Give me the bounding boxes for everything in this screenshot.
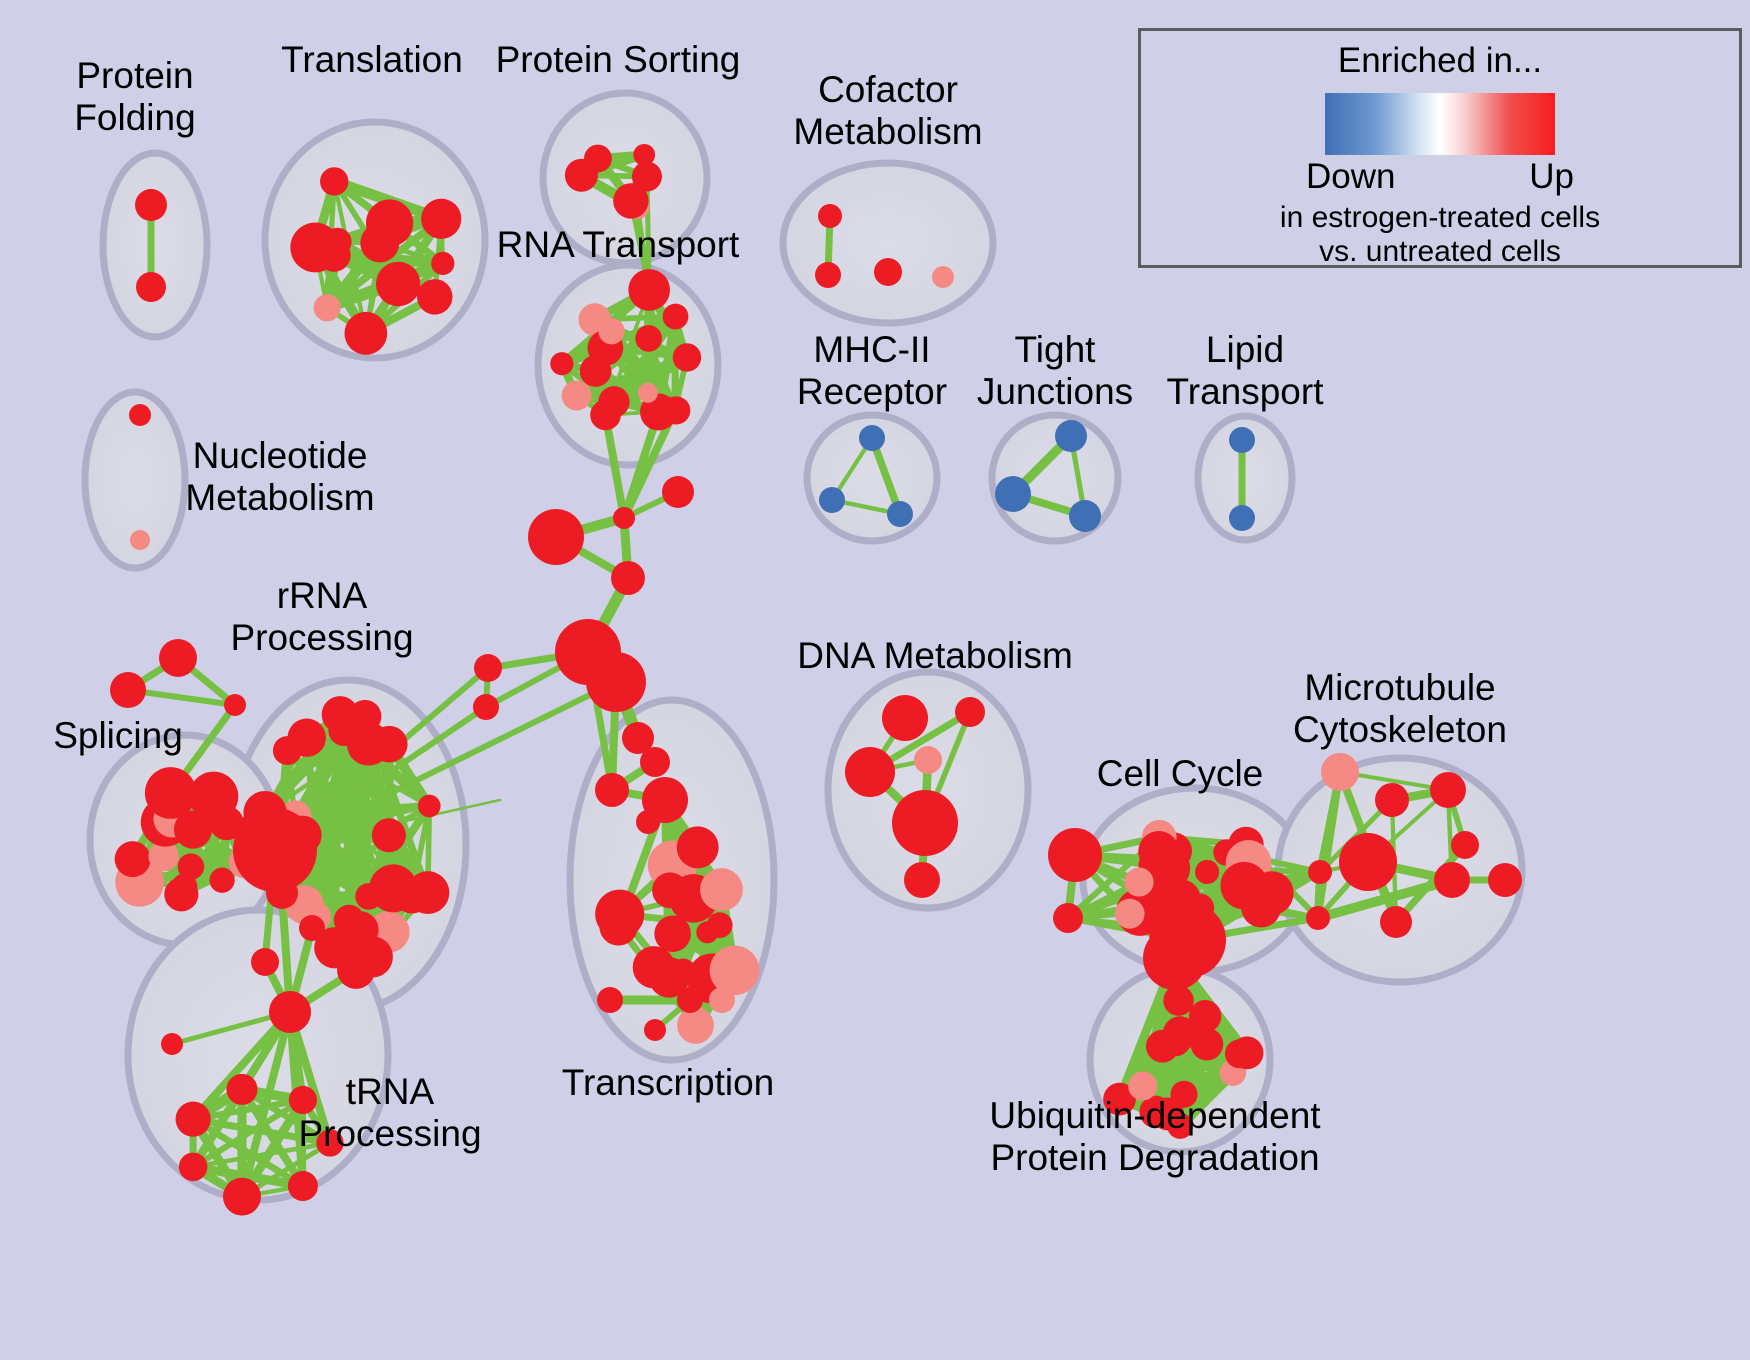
network-node[interactable] [1451, 831, 1479, 859]
network-node[interactable] [1048, 828, 1102, 882]
network-node[interactable] [644, 1019, 666, 1041]
network-node[interactable] [360, 223, 399, 262]
network-node[interactable] [845, 747, 895, 797]
network-node[interactable] [130, 530, 150, 550]
network-node[interactable] [1430, 772, 1466, 808]
network-node[interactable] [1380, 906, 1412, 938]
cluster-label-rna-transport: RNA Transport [497, 224, 740, 265]
network-node[interactable] [658, 923, 686, 951]
network-node[interactable] [1069, 500, 1101, 532]
network-node[interactable] [661, 396, 689, 424]
network-node[interactable] [1306, 906, 1330, 930]
network-node[interactable] [269, 991, 311, 1033]
network-node[interactable] [677, 987, 703, 1013]
network-node[interactable] [431, 252, 454, 275]
network-node[interactable] [1189, 1000, 1221, 1032]
network-node[interactable] [586, 652, 646, 712]
network-node[interactable] [818, 204, 842, 228]
network-node[interactable] [528, 509, 584, 565]
network-node[interactable] [632, 161, 662, 191]
network-node[interactable] [1191, 1028, 1224, 1061]
network-node[interactable] [1138, 831, 1179, 872]
network-node[interactable] [289, 1086, 317, 1114]
cluster-label-translation: Translation [281, 39, 463, 80]
network-node[interactable] [251, 948, 279, 976]
cluster-label-protein-sorting: Protein Sorting [496, 39, 741, 80]
network-node[interactable] [955, 697, 985, 727]
cluster-ellipse-cofactor-metabolism[interactable] [783, 163, 993, 323]
network-node[interactable] [115, 841, 151, 877]
network-node[interactable] [1229, 505, 1255, 531]
network-node[interactable] [136, 272, 166, 302]
cluster-label-transcription: Transcription [562, 1062, 774, 1103]
network-node[interactable] [224, 694, 246, 716]
network-node[interactable] [371, 726, 408, 763]
network-node[interactable] [418, 795, 441, 818]
network-node[interactable] [673, 343, 701, 371]
network-node[interactable] [1124, 868, 1153, 897]
cluster-label-ubiquitin-protein-degradation: Ubiquitin-dependentProtein Degradation [989, 1095, 1321, 1178]
legend-left-label: Down [1306, 157, 1395, 197]
network-node[interactable] [1488, 863, 1522, 897]
cluster-label-cofactor-metabolism: CofactorMetabolism [793, 69, 982, 152]
network-node[interactable] [677, 1007, 714, 1044]
network-node[interactable] [1115, 899, 1145, 929]
network-node[interactable] [562, 381, 592, 411]
network-node[interactable] [635, 325, 662, 352]
network-node[interactable] [129, 404, 151, 426]
network-node[interactable] [640, 747, 670, 777]
network-node[interactable] [324, 228, 352, 256]
network-node[interactable] [595, 890, 644, 939]
legend-title: Enriched in... [1141, 41, 1739, 81]
network-node[interactable] [320, 167, 348, 195]
network-node[interactable] [417, 279, 452, 314]
network-node[interactable] [1321, 753, 1359, 791]
network-node[interactable] [179, 1153, 208, 1182]
network-node[interactable] [1375, 783, 1409, 817]
network-node[interactable] [299, 915, 325, 941]
network-node[interactable] [638, 383, 658, 403]
network-node[interactable] [709, 987, 735, 1013]
network-node[interactable] [628, 269, 670, 311]
network-node[interactable] [322, 696, 359, 733]
network-node[interactable] [337, 951, 375, 989]
network-node[interactable] [550, 352, 573, 375]
network-node[interactable] [882, 695, 928, 741]
network-node[interactable] [1143, 926, 1207, 990]
cluster-label-cell-cycle: Cell Cycle [1097, 753, 1264, 794]
legend-subtitle-line-1: in estrogen-treated cells [1141, 201, 1739, 235]
network-node[interactable] [1195, 860, 1219, 884]
network-node[interactable] [1163, 985, 1193, 1015]
network-node[interactable] [372, 818, 406, 852]
network-node[interactable] [1053, 903, 1083, 933]
network-node[interactable] [1434, 862, 1470, 898]
network-node[interactable] [334, 905, 365, 936]
network-node[interactable] [314, 294, 341, 321]
network-node[interactable] [421, 199, 461, 239]
network-node[interactable] [815, 262, 841, 288]
network-node[interactable] [700, 868, 743, 911]
cluster-ellipse-protein-folding[interactable] [103, 153, 207, 337]
network-node[interactable] [611, 561, 645, 595]
network-node[interactable] [1220, 862, 1268, 910]
network-node[interactable] [209, 868, 234, 893]
cluster-label-nucleotide-metabolism: NucleotideMetabolism [185, 435, 374, 518]
cluster-label-protein-folding: ProteinFolding [74, 55, 195, 138]
network-node[interactable] [595, 773, 629, 807]
network-node[interactable] [344, 312, 387, 355]
network-node[interactable] [135, 189, 167, 221]
network-node[interactable] [859, 425, 885, 451]
network-node[interactable] [1229, 427, 1255, 453]
network-node[interactable] [376, 262, 420, 306]
network-node[interactable] [266, 877, 298, 909]
network-node[interactable] [223, 1178, 261, 1216]
network-node[interactable] [1308, 860, 1332, 884]
network-node[interactable] [874, 258, 902, 286]
network-node[interactable] [598, 318, 624, 344]
network-node[interactable] [613, 507, 635, 529]
network-node[interactable] [288, 1171, 318, 1201]
legend-color-gradient-bar [1325, 93, 1555, 155]
network-node[interactable] [677, 826, 719, 868]
network-node[interactable] [819, 487, 845, 513]
legend-subtitle-line-2: vs. untreated cells [1141, 235, 1739, 269]
network-node[interactable] [174, 810, 212, 848]
network-node[interactable] [110, 672, 146, 708]
network-node[interactable] [1055, 420, 1087, 452]
legend-right-label: Up [1529, 157, 1574, 197]
network-node[interactable] [473, 694, 499, 720]
network-node[interactable] [1339, 833, 1397, 891]
network-node[interactable] [663, 304, 689, 330]
network-node[interactable] [710, 946, 760, 996]
legend-panel: Enriched in... Down Up in estrogen-treat… [1138, 28, 1742, 268]
network-node[interactable] [636, 810, 660, 834]
network-node[interactable] [707, 912, 733, 938]
network-node[interactable] [598, 386, 629, 417]
network-node[interactable] [176, 1102, 211, 1137]
cluster-label-splicing: Splicing [53, 715, 183, 756]
network-node[interactable] [932, 266, 954, 288]
network-node[interactable] [892, 790, 958, 856]
network-node[interactable] [474, 654, 502, 682]
cluster-label-microtubule-cytoskeleton: MicrotubuleCytoskeleton [1293, 667, 1507, 750]
enrichment-map-figure: ProteinFoldingTranslationNucleotideMetab… [0, 0, 1750, 1360]
network-node[interactable] [995, 476, 1031, 512]
cluster-label-dna-metabolism: DNA Metabolism [797, 635, 1073, 676]
network-node[interactable] [597, 987, 623, 1013]
cluster-label-mhc-ii-receptor: MHC-IIReceptor [797, 329, 947, 412]
network-node[interactable] [914, 746, 942, 774]
network-node[interactable] [159, 639, 197, 677]
network-node[interactable] [662, 476, 694, 508]
network-node[interactable] [161, 1033, 183, 1055]
network-node[interactable] [164, 877, 198, 911]
network-node[interactable] [226, 1074, 257, 1105]
network-node[interactable] [1231, 1036, 1264, 1069]
network-node[interactable] [584, 145, 612, 173]
network-node[interactable] [904, 862, 940, 898]
network-node[interactable] [288, 719, 326, 757]
network-node[interactable] [887, 501, 913, 527]
network-node[interactable] [393, 876, 430, 913]
